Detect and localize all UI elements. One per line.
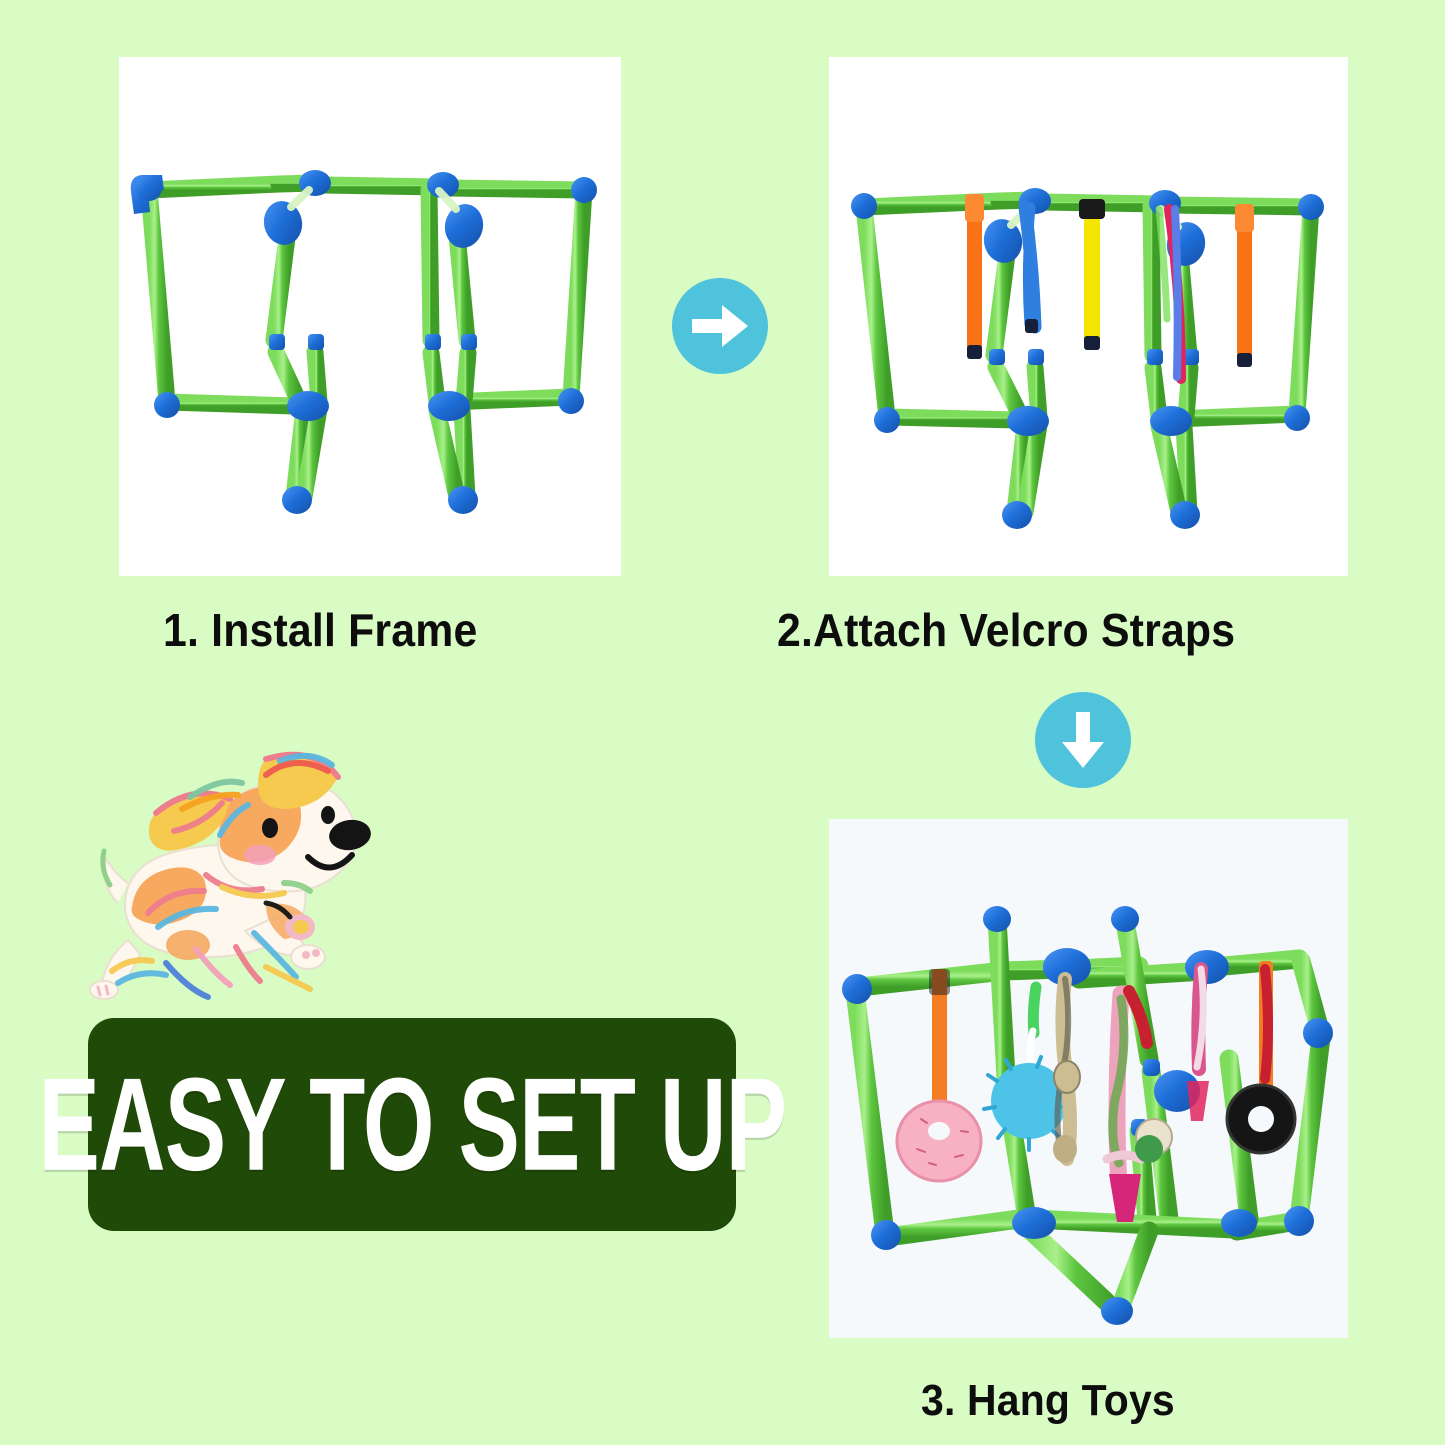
running-dog-illustration (70, 735, 390, 1035)
frame-assembly-photo (119, 57, 621, 576)
infographic-root: 1. Install Frame 2.Attach Velcro Straps … (0, 0, 1445, 1445)
step-1-photo (119, 57, 621, 576)
black-tire-toy (1227, 1085, 1295, 1153)
step-2-caption: 2.Attach Velcro Straps (777, 603, 1235, 657)
easy-to-set-up-banner: EASY TO SET UP (88, 1018, 736, 1231)
arrow-right-icon (672, 278, 768, 374)
velcro-straps-photo (829, 57, 1348, 576)
banner-text: EASY TO SET UP (38, 1058, 786, 1190)
arrow-down-icon (1035, 692, 1131, 788)
step-1-caption: 1. Install Frame (163, 603, 477, 657)
hang-toys-photo (829, 819, 1348, 1338)
step-2-photo (829, 57, 1348, 576)
step-3-caption: 3. Hang Toys (921, 1376, 1175, 1426)
step-3-photo (829, 819, 1348, 1338)
pink-donut-toy (897, 1101, 981, 1181)
